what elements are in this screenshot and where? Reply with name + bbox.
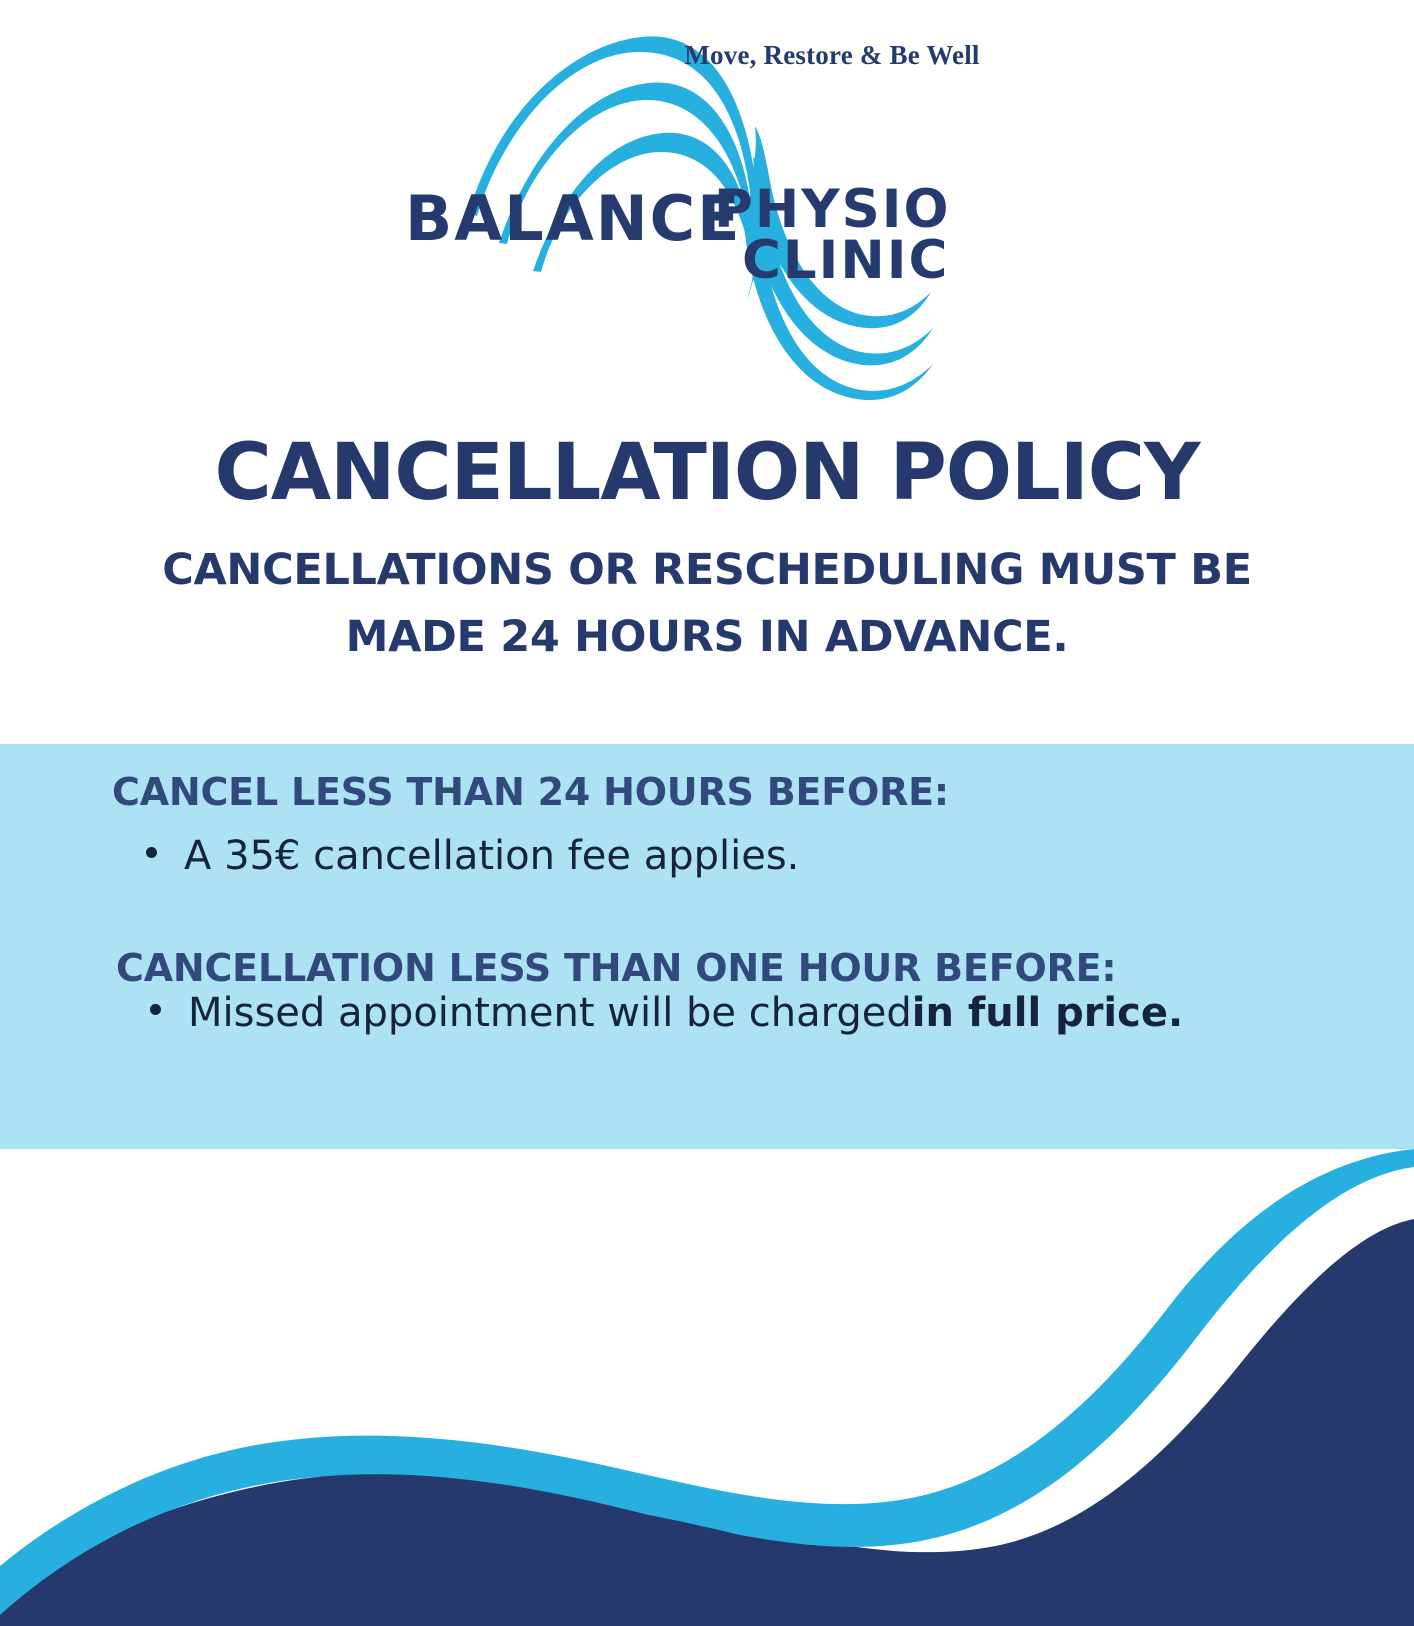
cancellation-policy-poster: Move, Restore & Be Well BALANCE PHYSIO C… [0,0,1414,1626]
policy-bullet-2: Missed appointment will be charged in fu… [150,989,1183,1037]
bottom-wave-decoration [0,1149,1414,1626]
page-subtitle: CANCELLATIONS OR RESCHEDULING MUST BE MA… [100,537,1314,670]
policy-bullet-2-emphasis: in full price. [912,989,1183,1037]
logo-header: Move, Restore & Be Well BALANCE PHYSIO C… [0,0,1414,420]
page-title: CANCELLATION POLICY [0,434,1414,512]
policy-bullet-1-text: A 35€ cancellation fee applies. [184,832,799,880]
policy-band: CANCEL LESS THAN 24 HOURS BEFORE: A 35€ … [0,744,1414,1149]
policy-bullet-1: A 35€ cancellation fee applies. [146,832,799,880]
bullet-dot-icon [146,847,157,858]
balance-physio-logo-swoosh [455,28,935,408]
policy-bullet-2-text: Missed appointment will be charged [188,989,912,1037]
subtitle-line-1: CANCELLATIONS OR RESCHEDULING MUST BE [100,537,1314,604]
bullet-dot-icon [150,1004,161,1015]
subtitle-line-2: MADE 24 HOURS IN ADVANCE. [100,604,1314,671]
brand-tagline: Move, Restore & Be Well [0,40,1414,71]
policy-section-heading-1: CANCEL LESS THAN 24 HOURS BEFORE: [112,773,949,811]
policy-section-heading-2: CANCELLATION LESS THAN ONE HOUR BEFORE: [116,949,1116,987]
